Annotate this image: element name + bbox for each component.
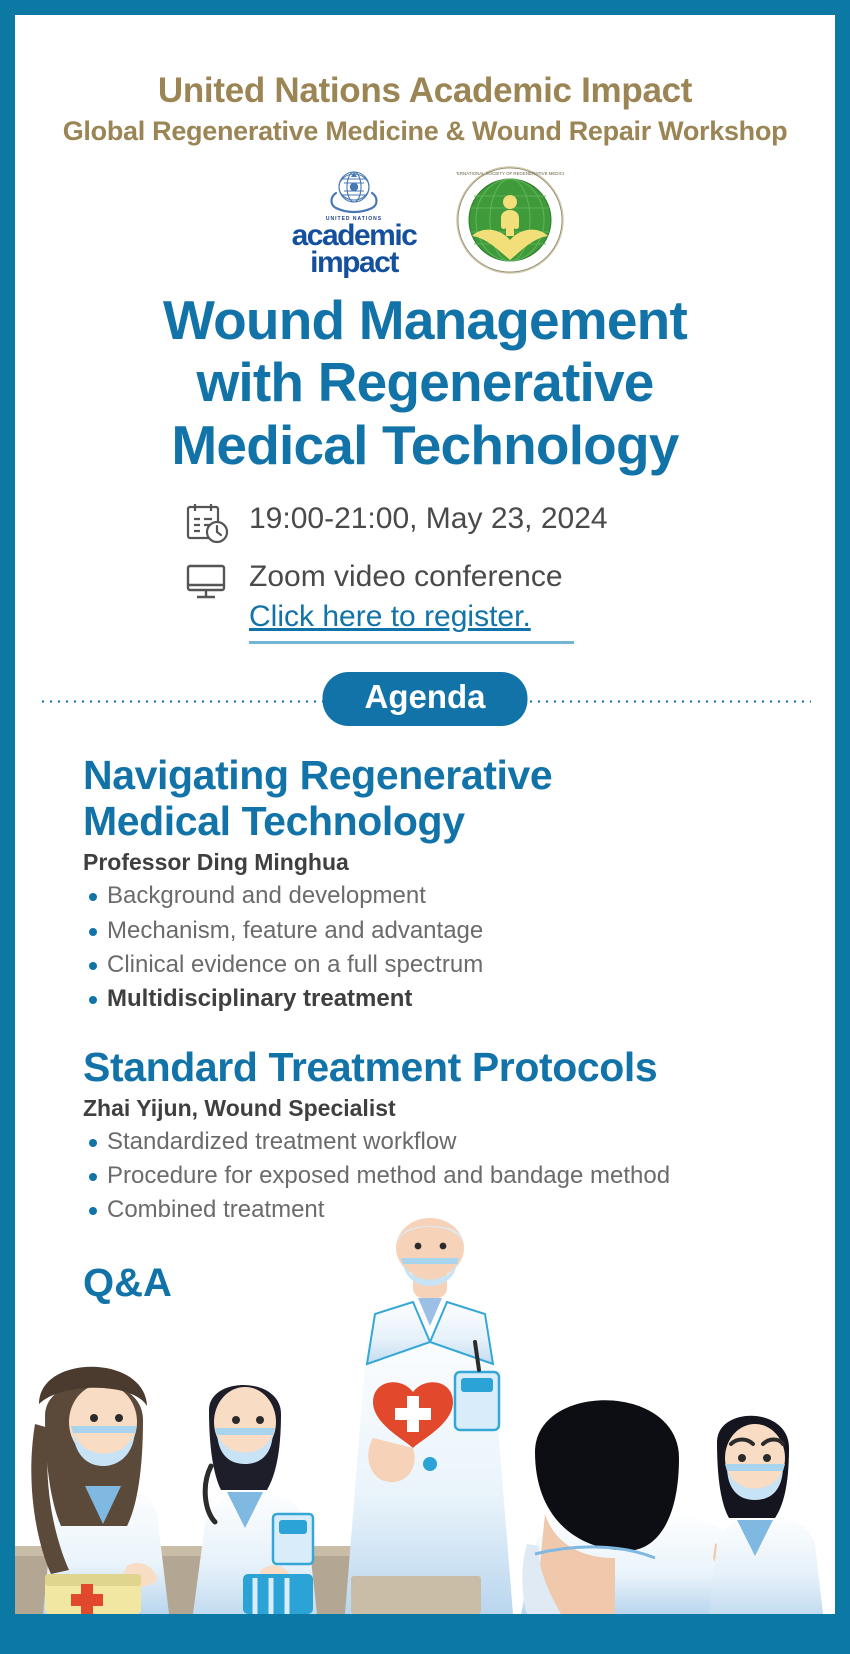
header: United Nations Academic Impact Global Re… xyxy=(15,15,835,147)
poster-panel: United Nations Academic Impact Global Re… xyxy=(15,15,835,1614)
agenda-divider: Agenda xyxy=(15,672,835,730)
attendee-left-2 xyxy=(193,1385,317,1614)
main-title: Wound Management with Regenerative Medic… xyxy=(15,289,835,477)
list-item: Clinical evidence on a full spectrum xyxy=(83,948,795,982)
register-link[interactable]: Click here to register. xyxy=(249,600,574,644)
poster-root: United Nations Academic Impact Global Re… xyxy=(0,0,850,1654)
list-item: Standardized treatment workflow xyxy=(83,1125,795,1159)
datetime-text: 19:00-21:00, May 23, 2024 xyxy=(249,499,608,538)
agenda-content: Navigating Regenerative Medical Technolo… xyxy=(15,730,835,1307)
section-1-bullets: Background and development Mechanism, fe… xyxy=(83,879,795,1015)
list-item: Combined treatment xyxy=(83,1193,795,1227)
calendar-clock-icon xyxy=(185,501,231,545)
un-emblem-icon xyxy=(324,163,384,215)
organization-title: United Nations Academic Impact xyxy=(15,73,835,110)
platform-text: Zoom video conference xyxy=(249,557,574,596)
platform-row: Zoom video conference Click here to regi… xyxy=(185,557,835,644)
list-item: Procedure for exposed method and bandage… xyxy=(83,1159,795,1193)
organization-subtitle: Global Regenerative Medicine & Wound Rep… xyxy=(15,116,835,147)
attendee-left-1 xyxy=(31,1367,169,1614)
attendee-right xyxy=(709,1416,823,1614)
society-emblem-icon: INTERNATIONAL SOCIETY OF REGENERATIVE ME… xyxy=(456,166,564,274)
section-1-title-line-2: Medical Technology xyxy=(83,798,795,844)
platform-block: Zoom video conference Click here to regi… xyxy=(249,557,574,644)
uai-word-academic: academic xyxy=(292,222,417,250)
datetime-row: 19:00-21:00, May 23, 2024 xyxy=(185,499,835,545)
section-2-bullets: Standardized treatment workflow Procedur… xyxy=(83,1125,795,1227)
event-meta: 19:00-21:00, May 23, 2024 Zoom video con… xyxy=(15,499,835,644)
un-academic-impact-logo: UNITED NATIONS academic impact xyxy=(287,163,422,277)
list-item: Background and development xyxy=(83,879,795,913)
agenda-section-1: Navigating Regenerative Medical Technolo… xyxy=(83,752,795,1016)
logo-row: UNITED NATIONS academic impact INTER xyxy=(15,165,835,275)
section-2-title: Standard Treatment Protocols xyxy=(83,1044,795,1090)
list-item: Multidisciplinary treatment xyxy=(83,982,795,1016)
qa-heading: Q&A xyxy=(83,1261,795,1306)
svg-text:INTERNATIONAL SOCIETY OF REGEN: INTERNATIONAL SOCIETY OF REGENERATIVE ME… xyxy=(456,171,564,176)
uai-word-impact: impact xyxy=(310,249,398,277)
agenda-badge: Agenda xyxy=(322,672,527,726)
monitor-icon xyxy=(185,559,231,603)
section-1-title: Navigating Regenerative Medical Technolo… xyxy=(83,752,795,845)
list-item: Mechanism, feature and advantage xyxy=(83,914,795,948)
agenda-section-2: Standard Treatment Protocols Zhai Yijun,… xyxy=(83,1044,795,1228)
attendee-back xyxy=(521,1400,763,1614)
section-1-speaker: Professor Ding Minghua xyxy=(83,849,795,876)
blue-supplies xyxy=(243,1574,313,1614)
main-title-line-3: Medical Technology xyxy=(15,414,835,477)
main-title-line-2: with Regenerative xyxy=(15,351,835,414)
section-1-title-line-1: Navigating Regenerative xyxy=(83,752,795,798)
first-aid-kit xyxy=(45,1574,141,1614)
section-2-speaker: Zhai Yijun, Wound Specialist xyxy=(83,1095,795,1122)
main-title-line-1: Wound Management xyxy=(15,289,835,352)
